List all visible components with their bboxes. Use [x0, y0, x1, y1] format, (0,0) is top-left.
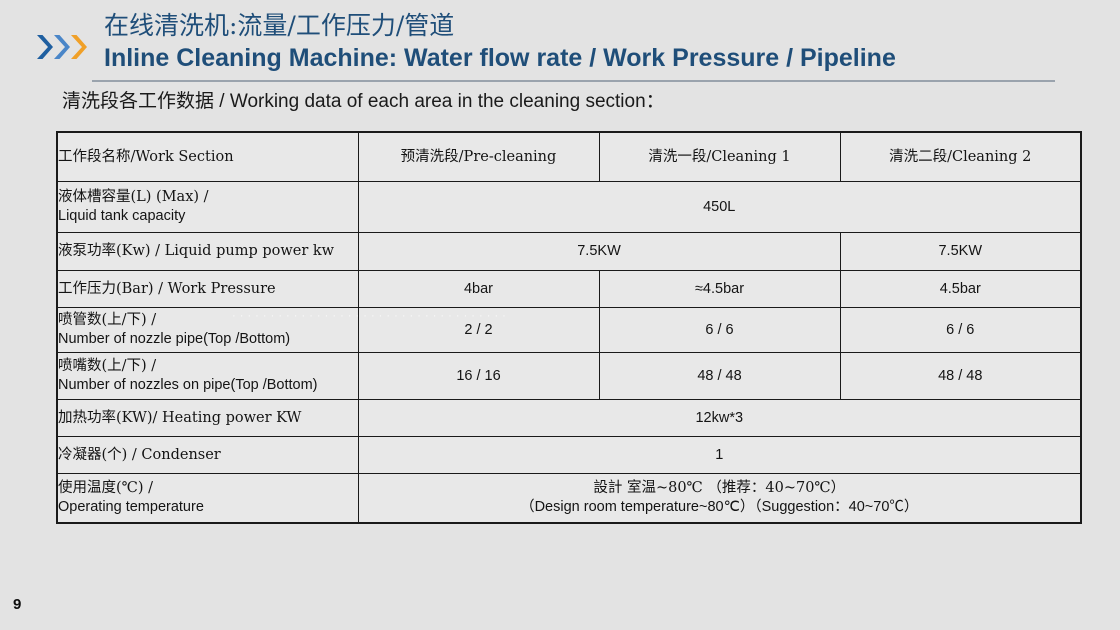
table-header-cleaning-2: 清洗二段/Cleaning 2 — [840, 132, 1081, 182]
row-value-operating-temperature: 設計 室温~80℃ （推荐：40~70℃） （Design room tempe… — [358, 474, 1081, 524]
slide-header: 在线清洗机:流量/工作压力/管道 Inline Cleaning Machine… — [0, 0, 1120, 88]
row-value-nozzles-on-pipe-1: 16 / 16 — [358, 353, 599, 400]
row-value-liquid-pump-power-1: 7.5KW — [358, 233, 840, 271]
table-row: 喷管数(上/下) / Number of nozzle pipe(Top /Bo… — [57, 308, 1081, 353]
row-value-nozzle-pipe-count-2: 6 / 6 — [599, 308, 840, 353]
page-title-english: Inline Cleaning Machine: Water flow rate… — [104, 43, 1084, 73]
row-value-liquid-tank-capacity: 450L — [358, 182, 1081, 233]
table-header-pre-cleaning: 预清洗段/Pre-cleaning — [358, 132, 599, 182]
row-value-nozzles-on-pipe-2: 48 / 48 — [599, 353, 840, 400]
row-label-condenser: 冷凝器(个) / Condenser — [57, 437, 358, 474]
row-value-work-pressure-3: 4.5bar — [840, 271, 1081, 308]
row-label-liquid-pump-power: 液泵功率(Kw) / Liquid pump power kw — [57, 233, 358, 271]
working-data-table: 工作段名称/Work Section 预清洗段/Pre-cleaning 清洗一… — [56, 131, 1082, 524]
title-divider-line — [92, 80, 1055, 82]
table-row: 液泵功率(Kw) / Liquid pump power kw 7.5KW 7.… — [57, 233, 1081, 271]
table-header-row: 工作段名称/Work Section 预清洗段/Pre-cleaning 清洗一… — [57, 132, 1081, 182]
row-value-heating-power: 12kw*3 — [358, 400, 1081, 437]
row-value-nozzles-on-pipe-3: 48 / 48 — [840, 353, 1081, 400]
table-header-work-section: 工作段名称/Work Section — [57, 132, 358, 182]
table-header-cleaning-1: 清洗一段/Cleaning 1 — [599, 132, 840, 182]
row-value-nozzle-pipe-count-3: 6 / 6 — [840, 308, 1081, 353]
chevron-right-icon-3 — [70, 33, 87, 61]
section-subtitle: 清洗段各工作数据 / Working data of each area in … — [62, 89, 665, 114]
row-label-operating-temperature: 使用温度(℃) / Operating temperature — [57, 474, 358, 524]
row-value-nozzle-pipe-count-1: 2 / 2 — [358, 308, 599, 353]
section-subtitle-english: / Working data of each area in the clean… — [214, 91, 665, 112]
table-row: 加热功率(KW)/ Heating power KW 12kw*3 — [57, 400, 1081, 437]
page-title-chinese: 在线清洗机:流量/工作压力/管道 — [104, 12, 1084, 40]
table-row: 喷嘴数(上/下) / Number of nozzles on pipe(Top… — [57, 353, 1081, 400]
row-value-condenser: 1 — [358, 437, 1081, 474]
table-row: 冷凝器(个) / Condenser 1 — [57, 437, 1081, 474]
row-label-work-pressure: 工作压力(Bar) / Work Pressure — [57, 271, 358, 308]
row-label-heating-power: 加热功率(KW)/ Heating power KW — [57, 400, 358, 437]
page-title: 在线清洗机:流量/工作压力/管道 Inline Cleaning Machine… — [104, 12, 1084, 73]
row-label-nozzle-pipe-count: 喷管数(上/下) / Number of nozzle pipe(Top /Bo… — [57, 308, 358, 353]
section-subtitle-chinese: 清洗段各工作数据 — [62, 90, 214, 112]
table-row: 液体槽容量(L) (Max) / Liquid tank capacity 45… — [57, 182, 1081, 233]
row-value-liquid-pump-power-2: 7.5KW — [840, 233, 1081, 271]
chevron-right-icon-2 — [53, 33, 70, 61]
row-label-liquid-tank-capacity: 液体槽容量(L) (Max) / Liquid tank capacity — [57, 182, 358, 233]
row-label-nozzles-on-pipe-count: 喷嘴数(上/下) / Number of nozzles on pipe(Top… — [57, 353, 358, 400]
row-value-work-pressure-1: 4bar — [358, 271, 599, 308]
spec-table-container: 工作段名称/Work Section 预清洗段/Pre-cleaning 清洗一… — [56, 131, 1080, 524]
table-row: 工作压力(Bar) / Work Pressure 4bar ≈4.5bar 4… — [57, 271, 1081, 308]
chevron-arrows-logo — [36, 33, 100, 63]
row-value-work-pressure-2: ≈4.5bar — [599, 271, 840, 308]
chevron-right-icon-1 — [36, 33, 53, 61]
page-number: 9 — [13, 596, 21, 613]
table-row: 使用温度(℃) / Operating temperature 設計 室温~80… — [57, 474, 1081, 524]
